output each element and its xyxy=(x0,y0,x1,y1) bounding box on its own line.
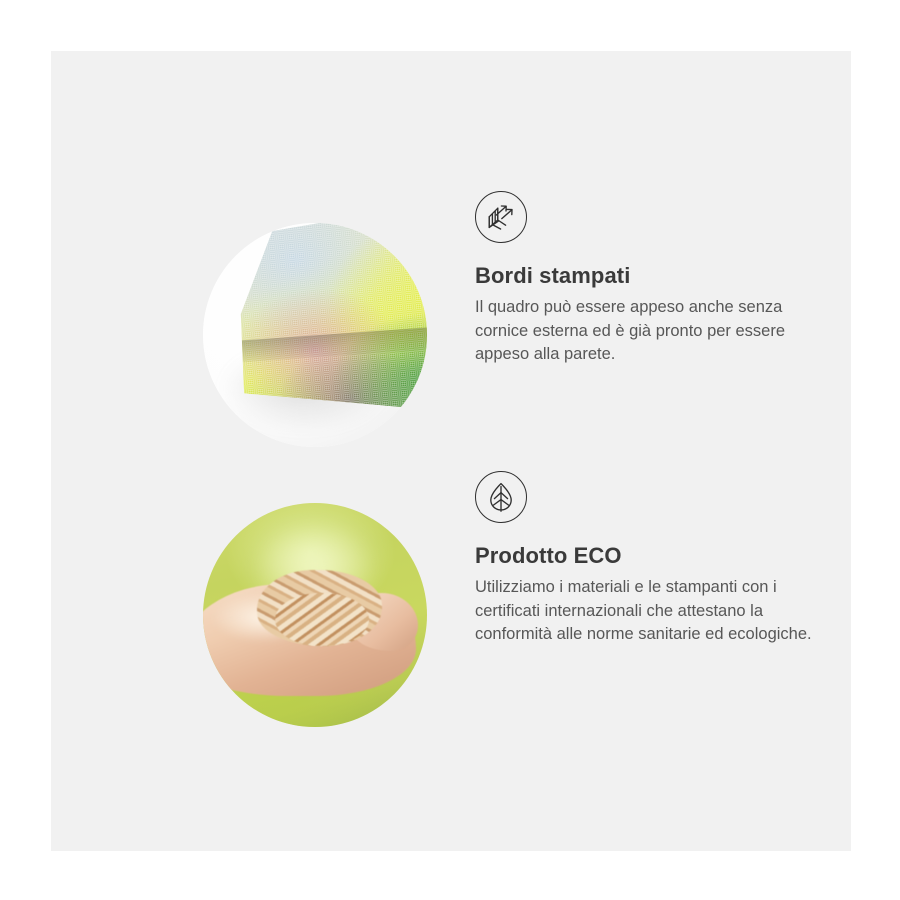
wood-chips-pile-top xyxy=(275,593,369,647)
canvas-corner-photo xyxy=(203,223,427,447)
leaf-glyph xyxy=(484,480,518,514)
wood-chips-in-hands-photo xyxy=(203,503,427,727)
feature-description: Utilizziamo i materiali e le stampanti c… xyxy=(475,576,839,646)
printed-edges-glyph xyxy=(484,200,518,234)
feature-text-eco-product: Prodotto ECO Utilizziamo i materiali e l… xyxy=(475,471,847,647)
feature-block-eco-product: Prodotto ECO Utilizziamo i materiali e l… xyxy=(151,471,851,761)
page-root: Bordi stampati Il quadro può essere appe… xyxy=(0,0,900,900)
feature-title: Prodotto ECO xyxy=(475,543,847,568)
canvas-corner-photo-image xyxy=(203,223,427,447)
printed-edges-icon xyxy=(475,191,527,243)
content-panel: Bordi stampati Il quadro può essere appe… xyxy=(51,51,851,851)
feature-description: Il quadro può essere appeso anche senza … xyxy=(475,296,839,366)
feature-text-printed-edges: Bordi stampati Il quadro può essere appe… xyxy=(475,191,847,367)
feature-block-printed-edges: Bordi stampati Il quadro può essere appe… xyxy=(151,191,851,481)
feature-title: Bordi stampati xyxy=(475,263,847,288)
wood-chips-photo-image xyxy=(203,503,427,727)
leaf-icon xyxy=(475,471,527,523)
